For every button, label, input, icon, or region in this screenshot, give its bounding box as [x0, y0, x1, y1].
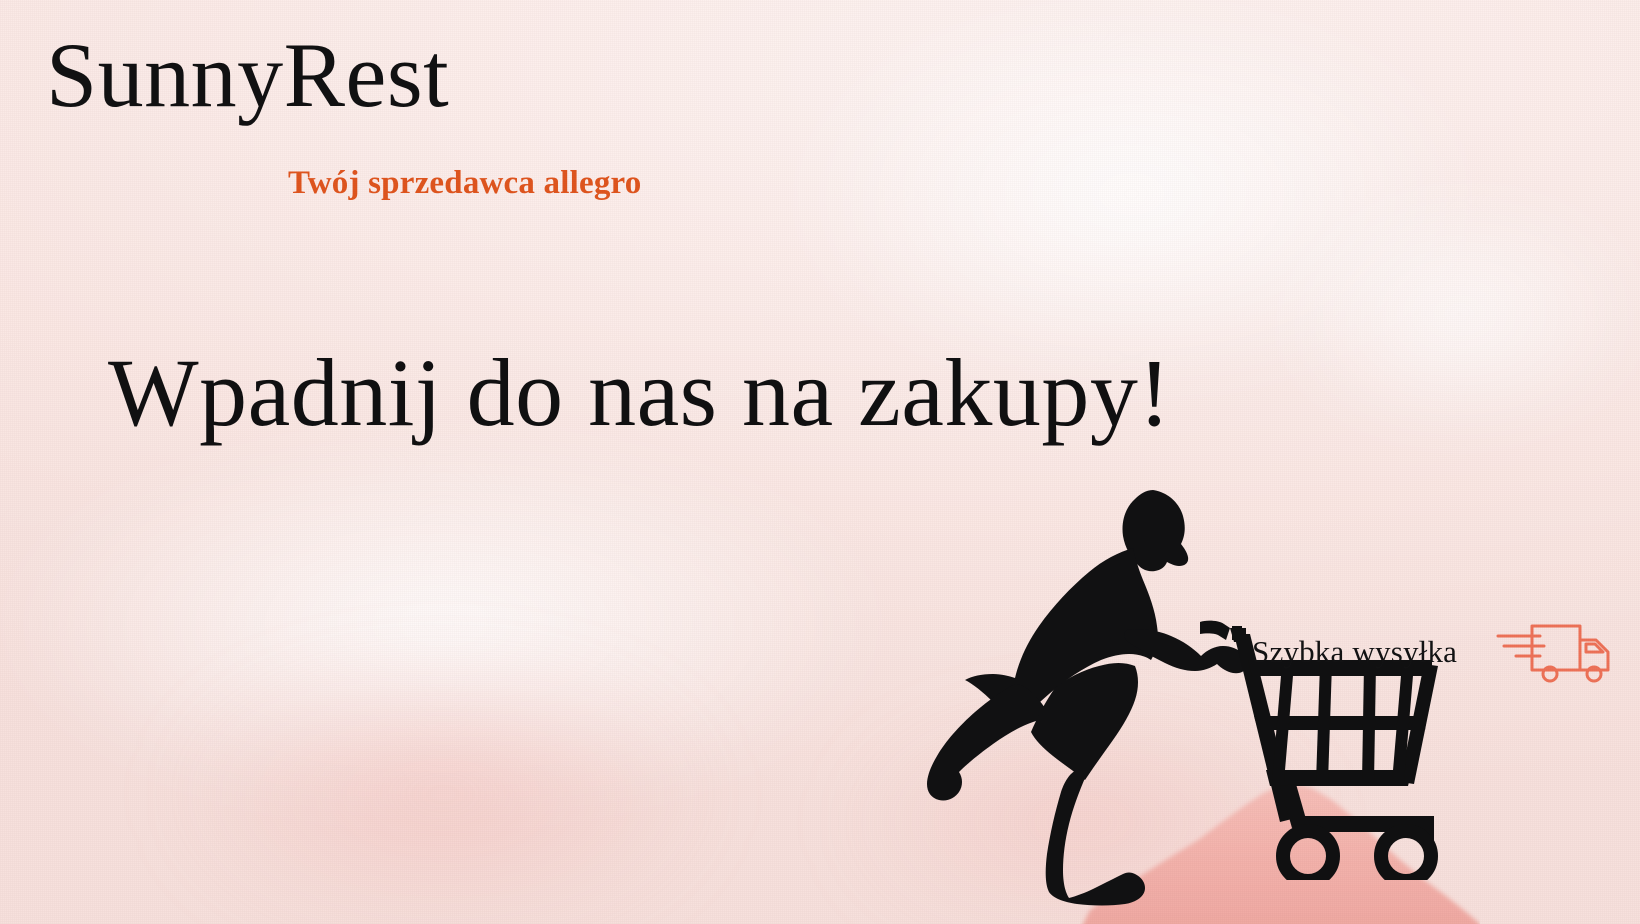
brand-tagline: Twój sprzedawca allegro	[288, 165, 642, 202]
background-cloud-lower-left	[66, 610, 820, 924]
shipping-label: Szybka wysyłka	[1252, 634, 1457, 670]
page-title: SunnyRest	[46, 26, 449, 125]
promo-banner: SunnyRest Twój sprzedawca allegro Wpadni…	[0, 0, 1640, 924]
delivery-truck-icon	[1496, 614, 1616, 688]
background-cloud-right	[1181, 129, 1640, 499]
promo-headline: Wpadnij do nas na zakupy!	[108, 340, 1171, 446]
